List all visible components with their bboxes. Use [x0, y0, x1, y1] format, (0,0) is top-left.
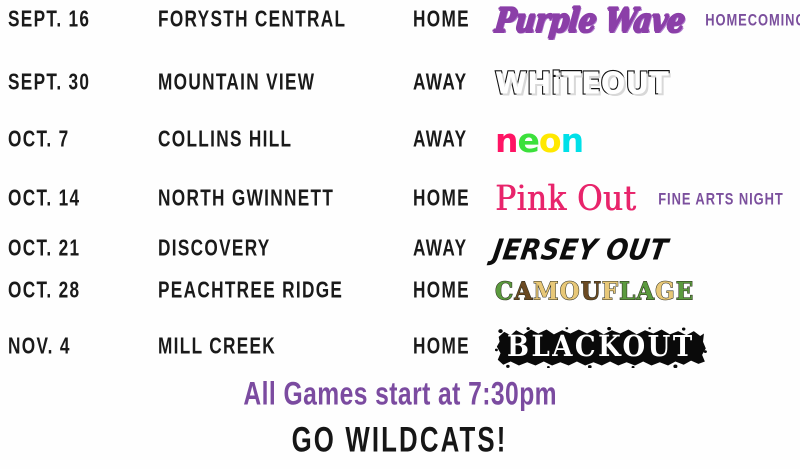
- row-opponent: MOUNTAIN VIEW: [158, 58, 315, 107]
- row-theme: Purple Wave HOMECOMING: [495, 0, 800, 42]
- row-opponent: NORTH GWINNETT: [158, 174, 334, 223]
- table-row: OCT. 7 COLLINS HILL AWAY neon: [0, 118, 800, 162]
- row-venue: HOME: [413, 174, 470, 223]
- row-venue: HOME: [413, 266, 470, 315]
- camouflage-letter-4: U: [581, 277, 602, 305]
- camouflage-letter-0: C: [495, 277, 514, 305]
- theme-blackout: BLACKOUT: [495, 327, 707, 368]
- camouflage-letter-7: A: [636, 277, 655, 305]
- theme-note-homecoming: HOMECOMING: [705, 11, 800, 30]
- camouflage-letter-6: L: [619, 277, 636, 305]
- row-theme: JERSEY OUT: [495, 227, 800, 271]
- theme-purple-wave: Purple Wave: [493, 1, 687, 40]
- table-row: SEPT. 16 FORYSTH CENTRAL HOME Purple Wav…: [0, 0, 800, 42]
- start-time-line: All Games start at 7:30pm: [0, 378, 800, 410]
- row-theme: CAMOUFLAGE: [495, 269, 800, 313]
- row-theme: WHiTEOUT: [495, 61, 800, 105]
- row-venue: HOME: [413, 322, 470, 371]
- row-venue: AWAY: [413, 115, 467, 164]
- row-opponent: MILL CREEK: [158, 322, 276, 371]
- camouflage-letter-2: M: [533, 277, 559, 305]
- row-opponent: PEACHTREE RIDGE: [158, 266, 343, 315]
- table-row: SEPT. 30 MOUNTAIN VIEW AWAY WHiTEOUT: [0, 61, 800, 105]
- cheer-line: GO WILDCATS!: [0, 424, 800, 458]
- row-theme: neon: [495, 118, 800, 162]
- theme-camouflage: CAMOUFLAGE: [495, 277, 694, 305]
- row-date: NOV. 4: [8, 322, 71, 371]
- theme-whiteout: WHiTEOUT: [495, 65, 669, 101]
- theme-blackout-label: BLACKOUT: [507, 330, 695, 363]
- table-row: OCT. 21 DISCOVERY AWAY JERSEY OUT: [0, 227, 800, 271]
- football-schedule-poster: SEPT. 16 FORYSTH CENTRAL HOME Purple Wav…: [0, 0, 800, 469]
- theme-jersey-out: JERSEY OUT: [491, 232, 671, 265]
- table-row: NOV. 4 MILL CREEK HOME: [0, 325, 800, 369]
- row-venue: HOME: [413, 0, 470, 45]
- theme-note-fine-arts-night: FINE ARTS NIGHT: [658, 190, 784, 209]
- row-opponent: COLLINS HILL: [158, 115, 292, 164]
- row-date: OCT. 14: [8, 174, 80, 223]
- row-venue: AWAY: [413, 58, 467, 107]
- camouflage-letter-1: A: [514, 277, 533, 305]
- row-date: OCT. 7: [8, 115, 69, 164]
- row-opponent: FORYSTH CENTRAL: [158, 0, 346, 45]
- camouflage-letter-3: O: [560, 277, 581, 305]
- neon-letter-3: n: [561, 121, 584, 160]
- row-date: OCT. 28: [8, 266, 80, 315]
- cheer-text: GO WILDCATS!: [292, 421, 508, 460]
- camouflage-letter-9: E: [676, 277, 695, 305]
- schedule-table: SEPT. 16 FORYSTH CENTRAL HOME Purple Wav…: [0, 0, 800, 372]
- row-theme: BLACKOUT: [495, 325, 800, 369]
- neon-letter-2: o: [539, 121, 561, 160]
- row-theme: Pink Out FINE ARTS NIGHT: [495, 177, 800, 221]
- table-row: OCT. 28 PEACHTREE RIDGE HOME CAMOUFLAGE: [0, 269, 800, 313]
- row-date: SEPT. 16: [8, 0, 90, 45]
- row-date: SEPT. 30: [8, 58, 90, 107]
- neon-letter-1: e: [518, 121, 539, 160]
- neon-letter-0: n: [495, 121, 518, 160]
- theme-pink-out: Pink Out: [495, 179, 636, 219]
- camouflage-letter-5: F: [602, 277, 619, 305]
- theme-neon: neon: [495, 121, 583, 160]
- camouflage-letter-8: G: [655, 277, 676, 305]
- start-time-text: All Games start at 7:30pm: [243, 375, 557, 412]
- table-row: OCT. 14 NORTH GWINNETT HOME Pink Out FIN…: [0, 177, 800, 221]
